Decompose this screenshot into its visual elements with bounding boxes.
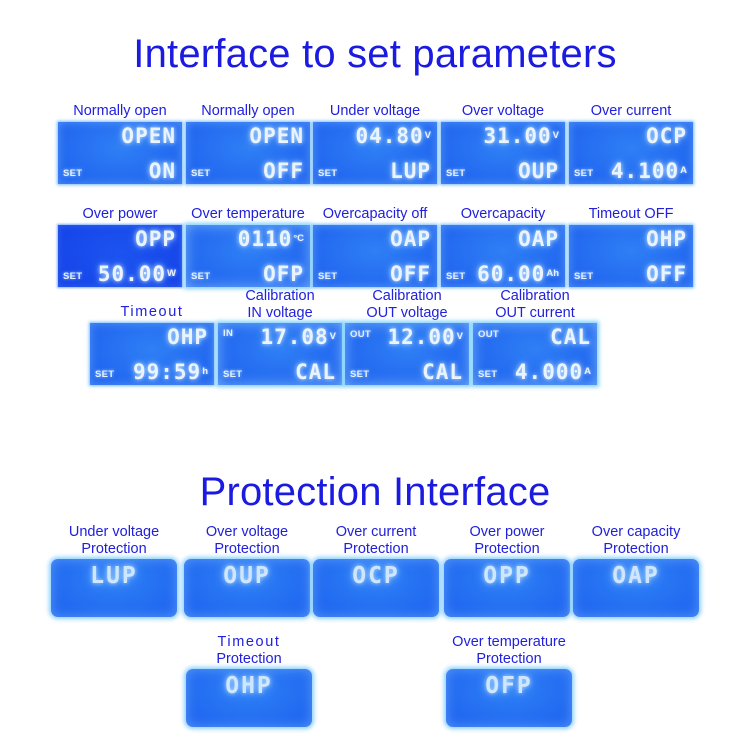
setting-caption: CalibrationOUT voltage — [343, 288, 471, 321]
lcd-set-tag: SET — [446, 271, 465, 282]
lcd-line1: CAL — [550, 326, 591, 348]
lcd-set-tag: SET — [446, 168, 465, 179]
lcd-set-tag: SET — [191, 168, 210, 179]
lcd-line2: 60.00Ah — [477, 263, 559, 285]
setting-caption: Overcapacity off — [311, 206, 439, 223]
protection-lcd-display[interactable]: OHP — [186, 669, 312, 727]
lcd-set-tag: SET — [191, 271, 210, 282]
lcd-input-tag: IN — [223, 328, 233, 339]
lcd-unit1: V — [329, 331, 336, 342]
setting-cell: Over powerSETOPP50.00W — [56, 206, 184, 287]
lcd-line2: CAL — [295, 361, 336, 383]
setting-cell: Normally openSETOPENOFF — [184, 103, 312, 184]
protection-caption-secondary: Protection — [572, 541, 700, 558]
lcd-input-tag: OUT — [478, 329, 499, 340]
protection-caption-secondary: Protection — [50, 541, 178, 558]
lcd-set-tag: SET — [223, 369, 242, 380]
protection-caption-primary: Over current — [312, 524, 440, 541]
protection-code: OCP — [313, 564, 439, 589]
lcd-line2-value: OFP — [263, 262, 304, 286]
lcd-line2: ON — [149, 160, 176, 182]
lcd-set-tag: SET — [318, 168, 337, 179]
lcd-line1-value: 0110 — [238, 227, 293, 251]
lcd-unit1: V — [552, 130, 559, 141]
lcd-line1: OPEN — [121, 125, 176, 147]
lcd-line1: OPP — [135, 228, 176, 250]
lcd-display[interactable]: INSET17.08VCAL — [218, 323, 342, 385]
lcd-line1-value: OAP — [518, 227, 559, 251]
lcd-line2-value: 50.00 — [98, 262, 166, 286]
setting-caption: CalibrationOUT current — [471, 288, 599, 321]
lcd-line1-value: OPP — [135, 227, 176, 251]
lcd-unit2: A — [679, 165, 687, 176]
lcd-line1: 17.08V — [260, 326, 336, 348]
lcd-line1: OHP — [167, 326, 208, 348]
lcd-line1: 04.80V — [355, 125, 431, 147]
lcd-line1-value: OHP — [167, 325, 208, 349]
protection-code: OAP — [573, 564, 699, 589]
lcd-line1-value: 17.08 — [260, 325, 328, 349]
lcd-line1-value: OCP — [646, 124, 687, 148]
protection-code: OPP — [444, 564, 570, 589]
lcd-line1: OHP — [646, 228, 687, 250]
setting-caption: Over temperature — [184, 206, 312, 223]
lcd-line2-value: 60.00 — [477, 262, 545, 286]
setting-caption: Over current — [567, 103, 695, 120]
protection-cell: Over powerProtectionOPP — [443, 524, 571, 617]
lcd-line2-value: OFF — [390, 262, 431, 286]
lcd-unit1: V — [424, 130, 431, 141]
lcd-set-tag: SET — [318, 271, 337, 282]
setting-cell: Over voltageSET31.00VOUP — [439, 103, 567, 184]
lcd-line2: 99:59h — [133, 361, 208, 383]
protection-code: LUP — [51, 564, 177, 589]
setting-cell: Overcapacity offSETOAPOFF — [311, 206, 439, 287]
lcd-line2-value: OFF — [646, 262, 687, 286]
protection-lcd-display[interactable]: OAP — [573, 559, 699, 617]
lcd-line2-value: 4.100 — [611, 159, 679, 183]
lcd-line2-value: 99:59 — [133, 360, 201, 384]
protection-cell: Over voltageProtectionOUP — [183, 524, 311, 617]
protection-caption-primary: Over power — [443, 524, 571, 541]
lcd-display[interactable]: SETOCP4.100A — [569, 122, 693, 184]
protection-cell: Over temperatureProtectionOFP — [445, 634, 573, 727]
protection-lcd-display[interactable]: OPP — [444, 559, 570, 617]
lcd-line1-value: OAP — [390, 227, 431, 251]
lcd-line2: CAL — [422, 361, 463, 383]
lcd-line2: OFF — [390, 263, 431, 285]
lcd-unit2: W — [166, 268, 176, 279]
lcd-line1: 12.00V — [387, 326, 463, 348]
lcd-line1-value: 12.00 — [387, 325, 455, 349]
lcd-line2: 4.000A — [515, 361, 591, 383]
lcd-line1: OAP — [518, 228, 559, 250]
lcd-line2-value: LUP — [390, 159, 431, 183]
protection-caption-primary: Under voltage — [50, 524, 178, 541]
setting-cell: Timeout OFFSETOHPOFF — [567, 206, 695, 287]
lcd-set-tag: SET — [350, 369, 369, 380]
lcd-line2-value: CAL — [422, 360, 463, 384]
setting-cell: Over temperatureSET0110°COFP — [184, 206, 312, 287]
lcd-line2: 4.100A — [611, 160, 687, 182]
lcd-line1-value: 04.80 — [355, 124, 423, 148]
lcd-line2-value: CAL — [295, 360, 336, 384]
lcd-display[interactable]: SETOAP60.00Ah — [441, 225, 565, 287]
lcd-line2: LUP — [390, 160, 431, 182]
setting-cell: CalibrationOUT voltageOUTSET12.00VCAL — [343, 288, 471, 385]
lcd-line1-value: 31.00 — [483, 124, 551, 148]
lcd-unit1: °C — [292, 233, 304, 244]
protection-code: OHP — [186, 674, 312, 699]
protection-section-title: Protection Interface — [0, 470, 750, 515]
protection-lcd-display[interactable]: OFP — [446, 669, 572, 727]
protection-code: OUP — [184, 564, 310, 589]
lcd-line2: OUP — [518, 160, 559, 182]
lcd-unit2: Ah — [545, 268, 559, 279]
protection-caption-secondary: Protection — [183, 541, 311, 558]
lcd-set-tag: SET — [63, 271, 82, 282]
setting-caption: Timeout — [88, 304, 216, 321]
lcd-line2: OFF — [646, 263, 687, 285]
lcd-line2-value: OFF — [263, 159, 304, 183]
protection-caption-primary: Over voltage — [183, 524, 311, 541]
lcd-display[interactable]: SETOPENOFF — [186, 122, 310, 184]
lcd-set-tag: SET — [63, 168, 82, 179]
lcd-display[interactable]: SETOPP50.00W — [58, 225, 182, 287]
lcd-line2: 50.00W — [98, 263, 176, 285]
setting-caption: Over voltage — [439, 103, 567, 120]
lcd-line1: OCP — [646, 125, 687, 147]
lcd-set-tag: SET — [95, 369, 114, 380]
lcd-line2-value: ON — [149, 159, 176, 183]
protection-cell: Under voltageProtectionLUP — [50, 524, 178, 617]
setting-caption: CalibrationIN voltage — [216, 288, 344, 321]
lcd-line1-value: OPEN — [249, 124, 304, 148]
protection-caption-secondary: Protection — [185, 651, 313, 668]
setting-cell: CalibrationIN voltageINSET17.08VCAL — [216, 288, 344, 385]
lcd-display[interactable]: SETOPENON — [58, 122, 182, 184]
protection-caption-secondary: Protection — [443, 541, 571, 558]
lcd-display[interactable]: SET04.80VLUP — [313, 122, 437, 184]
protection-cell: TimeoutProtectionOHP — [185, 634, 313, 727]
lcd-line2: OFF — [263, 160, 304, 182]
protection-cell: Over capacityProtectionOAP — [572, 524, 700, 617]
protection-lcd-display[interactable]: LUP — [51, 559, 177, 617]
lcd-set-tag: SET — [478, 369, 497, 380]
lcd-unit2: h — [201, 366, 208, 377]
setting-caption: Normally open — [56, 103, 184, 120]
lcd-line1: OAP — [390, 228, 431, 250]
lcd-display[interactable]: SET31.00VOUP — [441, 122, 565, 184]
lcd-line1: OPEN — [249, 125, 304, 147]
setting-caption: Over power — [56, 206, 184, 223]
lcd-line1-value: OPEN — [121, 124, 176, 148]
lcd-line2-value: OUP — [518, 159, 559, 183]
lcd-input-tag: OUT — [350, 329, 371, 340]
setting-caption: Overcapacity — [439, 206, 567, 223]
lcd-line1: 0110°C — [238, 228, 304, 250]
lcd-set-tag: SET — [574, 168, 593, 179]
lcd-line1-value: CAL — [550, 325, 591, 349]
lcd-line2-value: 4.000 — [515, 360, 583, 384]
lcd-line2: OFP — [263, 263, 304, 285]
settings-section-title: Interface to set parameters — [0, 32, 750, 77]
lcd-line1-value: OHP — [646, 227, 687, 251]
setting-caption: Normally open — [184, 103, 312, 120]
setting-cell: Normally openSETOPENON — [56, 103, 184, 184]
lcd-display[interactable]: SETOAPOFF — [313, 225, 437, 287]
setting-cell: CalibrationOUT currentOUTSETCAL4.000A — [471, 288, 599, 385]
protection-cell: Over currentProtectionOCP — [312, 524, 440, 617]
protection-caption-primary: Over temperature — [445, 634, 573, 651]
lcd-line1: 31.00V — [483, 125, 559, 147]
lcd-display[interactable]: OUTSETCAL4.000A — [473, 323, 597, 385]
protection-lcd-display[interactable]: OUP — [184, 559, 310, 617]
setting-cell: TimeoutSETOHP99:59h — [88, 288, 216, 385]
page-root: Interface to set parameters Normally ope… — [0, 0, 750, 750]
setting-cell: OvercapacitySETOAP60.00Ah — [439, 206, 567, 287]
protection-caption-primary: Over capacity — [572, 524, 700, 541]
protection-caption-secondary: Protection — [445, 651, 573, 668]
lcd-unit2: A — [583, 366, 591, 377]
setting-caption: Timeout OFF — [567, 206, 695, 223]
protection-caption-primary: Timeout — [185, 634, 313, 651]
lcd-display[interactable]: SETOHPOFF — [569, 225, 693, 287]
lcd-display[interactable]: SET0110°COFP — [186, 225, 310, 287]
setting-caption: Under voltage — [311, 103, 439, 120]
lcd-display[interactable]: OUTSET12.00VCAL — [345, 323, 469, 385]
protection-caption-secondary: Protection — [312, 541, 440, 558]
setting-cell: Over currentSETOCP4.100A — [567, 103, 695, 184]
lcd-display[interactable]: SETOHP99:59h — [90, 323, 214, 385]
setting-cell: Under voltageSET04.80VLUP — [311, 103, 439, 184]
lcd-unit1: V — [456, 331, 463, 342]
protection-lcd-display[interactable]: OCP — [313, 559, 439, 617]
protection-code: OFP — [446, 674, 572, 699]
lcd-set-tag: SET — [574, 271, 593, 282]
